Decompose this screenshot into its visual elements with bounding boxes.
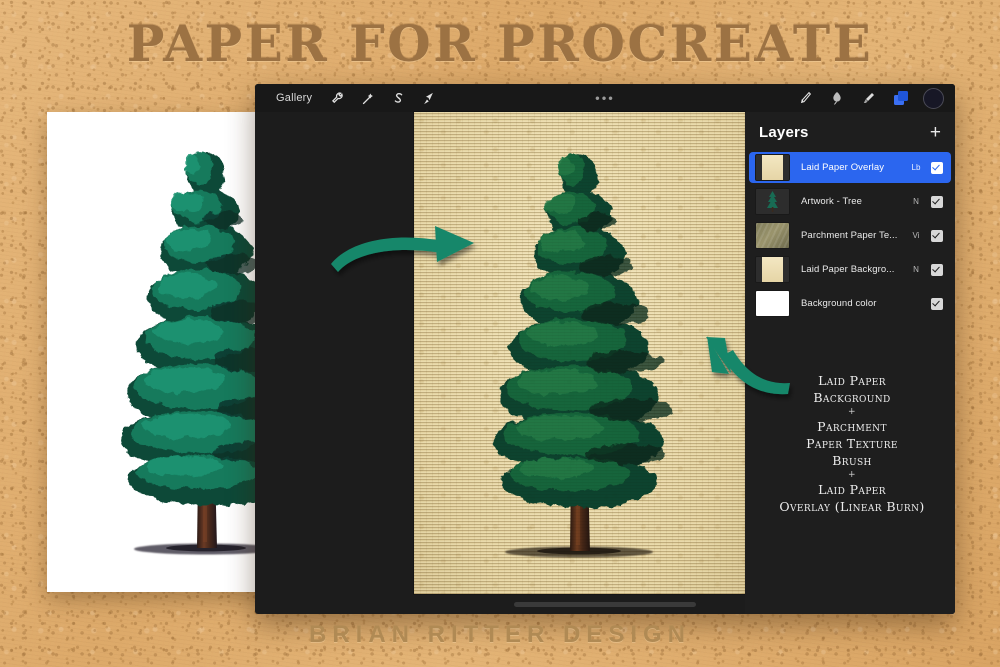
layer-name: Parchment Paper Te... — [790, 230, 908, 241]
add-layer-button[interactable]: + — [930, 123, 941, 142]
magic-wand-icon[interactable] — [353, 86, 383, 110]
caption-line-7: Overlay (Linear Burn) — [752, 498, 952, 515]
selection-s-icon[interactable] — [383, 86, 413, 110]
layer-blend-mode[interactable]: N — [908, 265, 924, 274]
layer-name: Laid Paper Overlay — [790, 162, 908, 173]
eraser-icon[interactable] — [855, 86, 883, 110]
caption-line-4: Paper Texture — [752, 435, 952, 452]
tree-thumbnail-icon — [756, 189, 789, 214]
smudge-icon[interactable] — [823, 86, 851, 110]
wrench-icon[interactable] — [323, 86, 353, 110]
layer-name: Laid Paper Backgro... — [790, 264, 908, 275]
caption-line-2: Background — [752, 389, 952, 406]
layer-thumbnail — [755, 290, 790, 317]
layer-visibility-checkbox[interactable] — [931, 196, 943, 208]
layer-row-background-color[interactable]: Background color — [749, 288, 951, 319]
layer-row-parchment-paper-texture[interactable]: Parchment Paper Te... Vi — [749, 220, 951, 251]
brush-icon[interactable] — [791, 86, 819, 110]
caption-separator-2: + — [752, 469, 952, 481]
home-indicator[interactable] — [514, 602, 696, 607]
gallery-button[interactable]: Gallery — [265, 92, 323, 104]
layer-visibility-checkbox[interactable] — [931, 230, 943, 242]
layer-blend-mode[interactable]: Lb — [908, 163, 924, 172]
feature-caption: Laid Paper Background + Parchment Paper … — [752, 372, 952, 515]
layer-thumbnail — [755, 256, 790, 283]
caption-line-6: Laid Paper — [752, 481, 952, 498]
color-swatch[interactable] — [919, 86, 947, 110]
layer-thumbnail — [755, 154, 790, 181]
caption-line-3: Parchment — [752, 418, 952, 435]
transform-arrow-icon[interactable] — [413, 86, 443, 110]
caption-separator-1: + — [752, 406, 952, 418]
procreate-toolbar: Gallery ••• — [255, 84, 955, 112]
brand-footer: BRIAN RITTER DESIGN — [0, 621, 1000, 649]
layer-visibility-checkbox[interactable] — [931, 298, 943, 310]
caption-line-5: Brush — [752, 452, 952, 469]
layer-row-artwork-tree[interactable]: Artwork - Tree N — [749, 186, 951, 217]
layers-title: Layers — [759, 124, 809, 141]
page-title: PAPER FOR PROCREATE — [0, 14, 1000, 73]
tablet-device: Gallery ••• — [255, 84, 955, 614]
layer-blend-mode[interactable]: N — [908, 197, 924, 206]
layers-icon[interactable] — [887, 86, 915, 110]
caption-line-1: Laid Paper — [752, 372, 952, 389]
layer-name: Artwork - Tree — [790, 196, 908, 207]
layer-visibility-checkbox[interactable] — [931, 162, 943, 174]
layers-panel-header: Layers + — [745, 112, 955, 152]
layers-panel: Layers + Laid Paper Overlay Lb Artwork -… — [745, 112, 955, 614]
layer-blend-mode[interactable]: Vi — [908, 231, 924, 240]
layer-thumbnail — [755, 188, 790, 215]
layer-row-laid-paper-overlay[interactable]: Laid Paper Overlay Lb — [749, 152, 951, 183]
layer-row-laid-paper-background[interactable]: Laid Paper Backgro... N — [749, 254, 951, 285]
layer-thumbnail — [755, 222, 790, 249]
artwork-canvas[interactable] — [414, 112, 745, 594]
layer-visibility-checkbox[interactable] — [931, 264, 943, 276]
more-options-icon[interactable]: ••• — [595, 92, 615, 105]
laid-paper-overlay-linear-burn — [414, 112, 745, 594]
layer-name: Background color — [790, 298, 908, 309]
